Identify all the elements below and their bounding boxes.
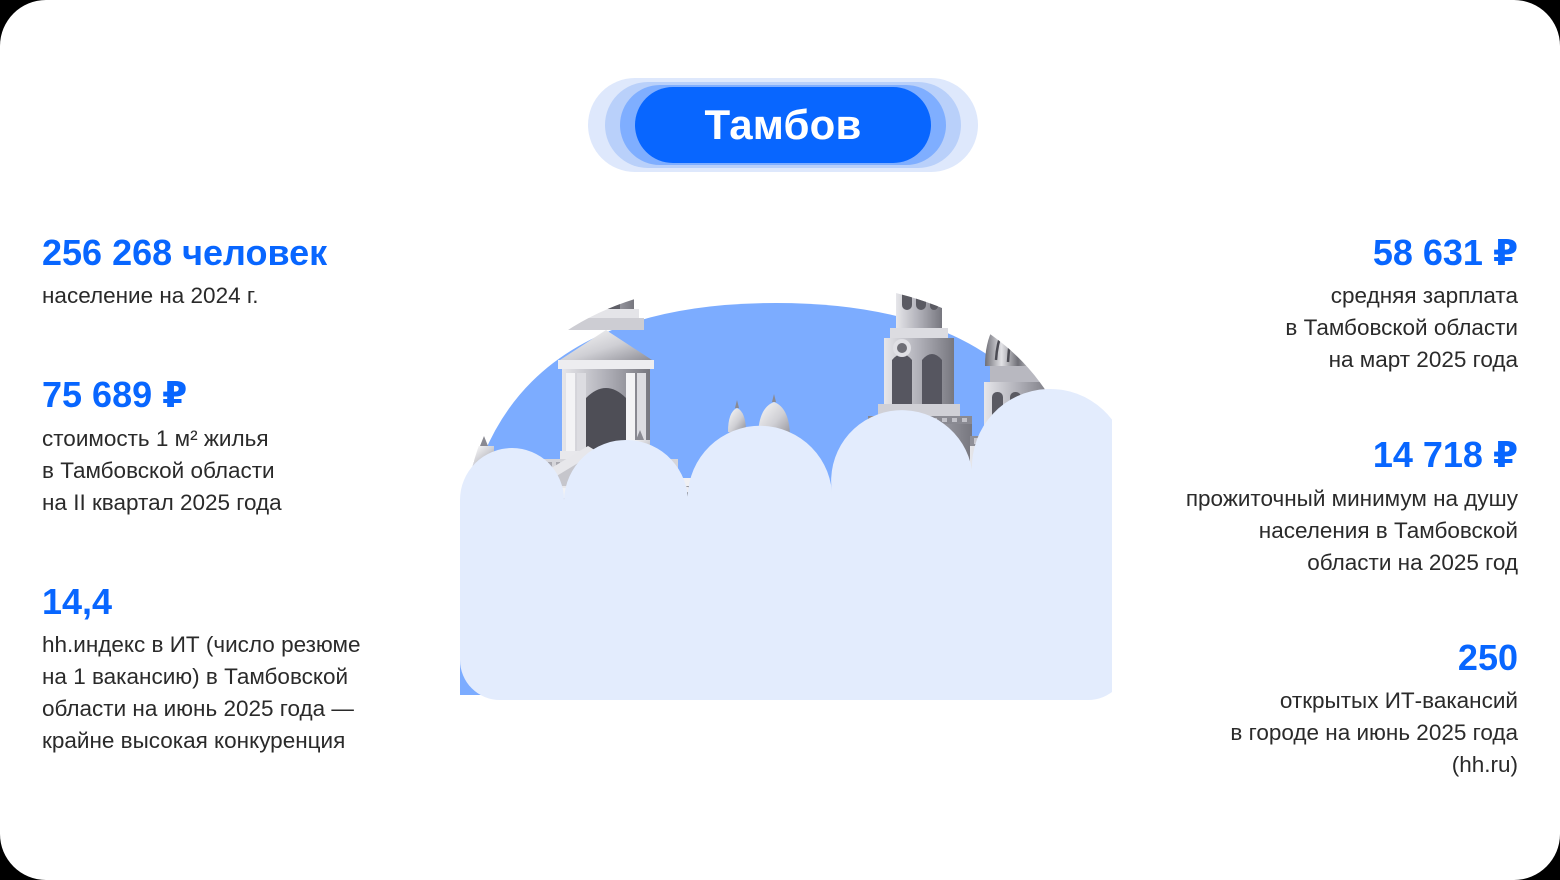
city-title-label: Тамбов bbox=[704, 104, 861, 146]
stat-value: 14 718 ₽ bbox=[1088, 434, 1518, 476]
stat-living-wage: 14 718 ₽ прожиточный минимум на душу нас… bbox=[1088, 434, 1518, 578]
stat-value: 250 bbox=[1088, 637, 1518, 679]
stat-hh-index: 14,4 hh.индекс в ИТ (число резюме на 1 в… bbox=[42, 581, 462, 757]
stat-label: hh.индекс в ИТ (число резюме на 1 ваканс… bbox=[42, 629, 462, 757]
stat-population: 256 268 человек население на 2024 г. bbox=[42, 232, 462, 312]
stat-label: прожиточный минимум на душу населения в … bbox=[1088, 483, 1518, 579]
tambov-cathedral-illustration bbox=[440, 170, 1112, 710]
stat-label: население на 2024 г. bbox=[42, 280, 462, 312]
stats-column-left: 256 268 человек население на 2024 г. 75 … bbox=[42, 232, 462, 757]
stat-label: средняя зарплата в Тамбовской области на… bbox=[1088, 280, 1518, 376]
stat-label: стоимость 1 м² жилья в Тамбовской област… bbox=[42, 423, 462, 519]
city-title-badge: Тамбов bbox=[588, 78, 978, 172]
stat-value: 58 631 ₽ bbox=[1088, 232, 1518, 274]
infographic-page: Тамбов bbox=[0, 0, 1560, 880]
stat-it-vacancies: 250 открытых ИТ-вакансий в городе на июн… bbox=[1088, 637, 1518, 781]
stat-value: 256 268 человек bbox=[42, 232, 462, 274]
stats-column-right: 58 631 ₽ средняя зарплата в Тамбовской о… bbox=[1088, 232, 1518, 781]
stat-housing-price: 75 689 ₽ стоимость 1 м² жилья в Тамбовск… bbox=[42, 374, 462, 518]
stat-average-salary: 58 631 ₽ средняя зарплата в Тамбовской о… bbox=[1088, 232, 1518, 376]
city-title-pill: Тамбов bbox=[635, 87, 931, 163]
stat-label: открытых ИТ-вакансий в городе на июнь 20… bbox=[1088, 685, 1518, 781]
stat-value: 75 689 ₽ bbox=[42, 374, 462, 416]
stat-value: 14,4 bbox=[42, 581, 462, 623]
